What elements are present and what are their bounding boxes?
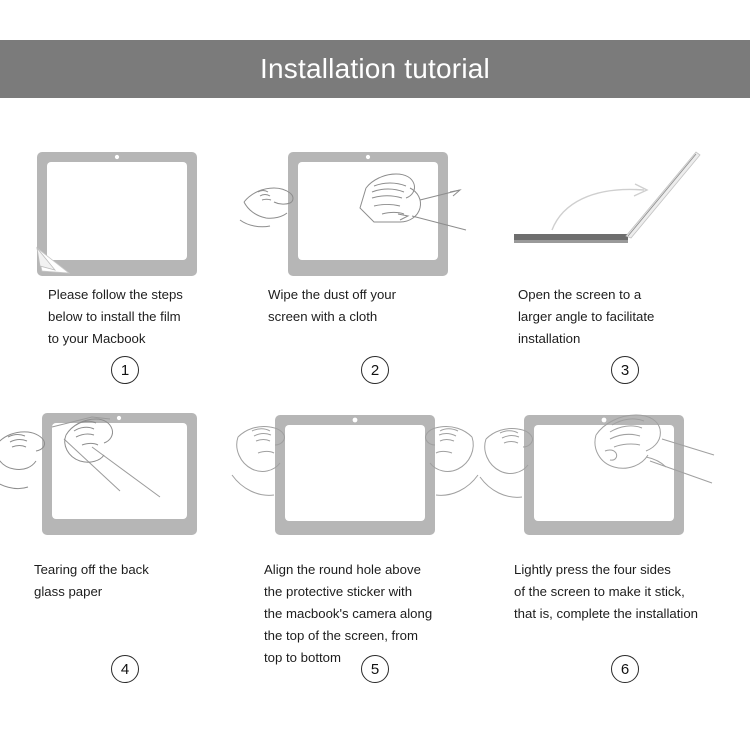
step-2-caption: Wipe the dust off your screen with a clo… [268, 284, 492, 328]
step-item-1: Please follow the steps below to install… [0, 130, 250, 405]
step-number-badge: 6 [611, 655, 639, 683]
step-6-number-wrap: 6 [500, 655, 750, 683]
screen-frame-icon [42, 413, 197, 535]
step-4-number-wrap: 4 [0, 655, 268, 683]
step-3-caption: Open the screen to a larger angle to fac… [518, 284, 742, 350]
step-1-caption: Please follow the steps below to install… [48, 284, 242, 350]
header-banner: Installation tutorial [0, 40, 750, 98]
left-hand-icon [0, 432, 45, 489]
step-4-illustration [0, 405, 250, 545]
steps-grid: Please follow the steps below to install… [0, 130, 750, 705]
step-1-illustration [0, 130, 250, 270]
step-1-number-wrap: 1 [0, 356, 268, 384]
step-6-illustration [500, 405, 750, 545]
steps-row-bottom: Tearing off the back glass paper 4 [0, 405, 750, 705]
screen-frame-icon [288, 152, 448, 276]
step-number-badge: 1 [111, 356, 139, 384]
step-item-3: Open the screen to a larger angle to fac… [500, 130, 750, 405]
step-4-caption: Tearing off the back glass paper [34, 559, 242, 603]
step-number-badge: 2 [361, 356, 389, 384]
step-number-badge: 4 [111, 655, 139, 683]
step-number-badge: 5 [361, 655, 389, 683]
step-3-number-wrap: 3 [500, 356, 750, 384]
step-item-4: Tearing off the back glass paper 4 [0, 405, 250, 705]
step-5-illustration [250, 405, 500, 545]
step-item-2: Wipe the dust off your screen with a clo… [250, 130, 500, 405]
step-5-number-wrap: 5 [250, 655, 538, 683]
step-2-number-wrap: 2 [250, 356, 538, 384]
page-title: Installation tutorial [260, 55, 490, 83]
step-6-caption: Lightly press the four sides of the scre… [514, 559, 742, 625]
screen-frame-icon [37, 152, 197, 276]
step-5-caption: Align the round hole above the protectiv… [264, 559, 492, 669]
step-2-illustration [250, 130, 500, 270]
step-item-5: Align the round hole above the protectiv… [250, 405, 500, 705]
step-item-6: Lightly press the four sides of the scre… [500, 405, 750, 705]
laptop-base-icon [514, 234, 628, 243]
steps-row-top: Please follow the steps below to install… [0, 130, 750, 405]
screen-frame-icon [275, 415, 435, 535]
step-number-badge: 3 [611, 356, 639, 384]
step-3-illustration [500, 130, 750, 270]
open-arrow-icon [552, 184, 647, 230]
tutorial-page: Installation tutorial [0, 0, 750, 750]
